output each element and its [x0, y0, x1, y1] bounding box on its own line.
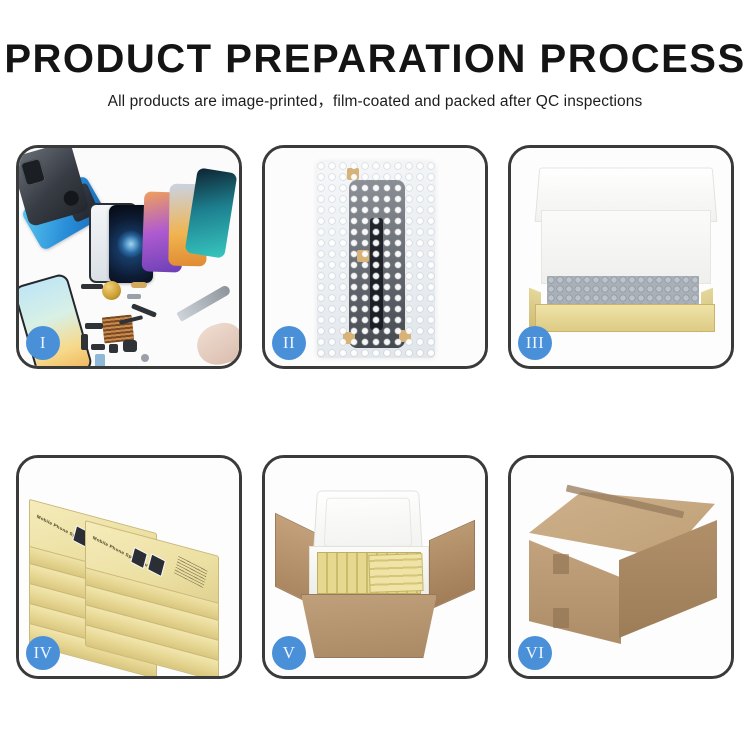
step-badge-2: II: [272, 326, 306, 360]
step-badge-6: VI: [518, 636, 552, 670]
step-panel-2[interactable]: II: [262, 145, 488, 369]
page-header: PRODUCT PREPARATION PROCESS All products…: [0, 0, 750, 111]
spare-part-connector-1: [81, 284, 103, 289]
step-panel-3[interactable]: III: [508, 145, 734, 369]
step-panel-4[interactable]: Mobile Phone Spare Parts Mobile Phone Sp…: [16, 455, 242, 679]
white-foam-sheet-icon: [541, 210, 711, 284]
page-subtitle: All products are image-printed，film-coat…: [0, 89, 750, 111]
spare-part-bracket-1: [81, 334, 88, 350]
spare-part-bracket-2: [91, 344, 105, 350]
step-panel-6[interactable]: VI: [508, 455, 734, 679]
step-panel-5[interactable]: V: [262, 455, 488, 679]
carton-tape-upper-icon: [553, 554, 569, 574]
spare-part-speaker: [123, 340, 137, 352]
carton-front-panel-icon: [301, 594, 437, 658]
page-title: PRODUCT PREPARATION PROCESS: [0, 38, 750, 80]
bubble-texture-overlay: [317, 162, 435, 358]
gray-bubble-wrap-icon: [547, 276, 699, 306]
spare-part-connector-3: [85, 323, 103, 329]
spare-part-button: [109, 344, 118, 353]
kraft-box-front-icon: [535, 304, 715, 332]
retail-box-window-lower-2: [147, 553, 166, 577]
copper-coil-part-icon: [102, 281, 121, 300]
carton-tape-lower-icon: [553, 608, 569, 628]
spare-part-sim-tray: [95, 354, 105, 366]
bubble-wrap-bag-icon: [317, 162, 435, 358]
step-badge-5: V: [272, 636, 306, 670]
process-steps-grid: I II III: [16, 145, 734, 679]
yellow-boxes-stack-icon: [368, 553, 423, 593]
step-badge-3: III: [518, 326, 552, 360]
retail-box-spec-lines-lower: [174, 555, 208, 588]
spare-part-connector-2: [127, 294, 141, 299]
step-badge-4: IV: [26, 636, 60, 670]
step-panel-1[interactable]: I: [16, 145, 242, 369]
spare-part-gold-flex: [131, 282, 147, 288]
step-badge-1: I: [26, 326, 60, 360]
spare-part-screw: [141, 354, 149, 362]
